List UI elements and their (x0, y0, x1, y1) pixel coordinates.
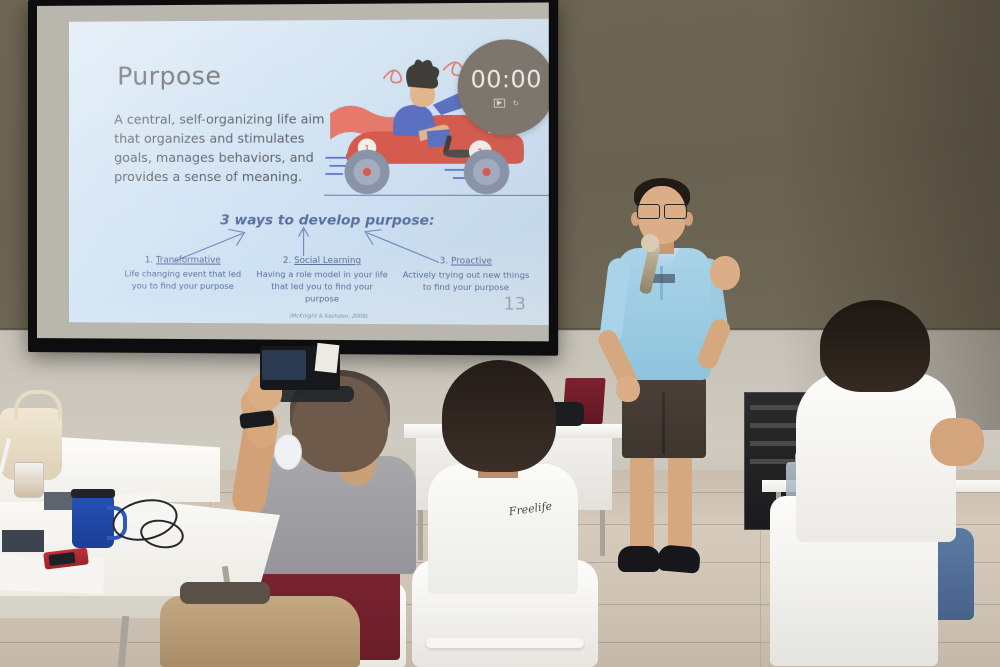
presentation-slide: Purpose A central, self-organizing life … (69, 19, 549, 325)
arrow-middle (293, 226, 313, 258)
attendee-white-tee: Freelife (406, 360, 616, 667)
screen-surface: Purpose A central, self-organizing life … (37, 2, 549, 341)
shoe-right (657, 544, 701, 574)
travel-tumbler (72, 496, 114, 548)
hand-left (616, 376, 640, 402)
ways-heading: 3 ways to develop purpose: (220, 212, 434, 229)
presenter (600, 178, 760, 598)
plastic-cup (14, 462, 44, 498)
column-1-heading: Transformative (156, 255, 221, 265)
slide-page-number: 13 (503, 294, 525, 315)
shoe-left (618, 546, 660, 572)
play-icon[interactable]: ▶ (494, 99, 506, 108)
column-3-heading: Proactive (451, 256, 492, 266)
hair (442, 360, 556, 472)
white-tshirt (796, 372, 956, 542)
seminar-room-photo: Purpose A central, self-organizing life … (0, 0, 1000, 667)
column-social-learning: 2. Social Learning Having a role model i… (256, 255, 389, 306)
slide-title: Purpose (117, 61, 221, 91)
slide-body-text: A central, self-organizing life aim that… (114, 109, 332, 186)
backpack (160, 596, 360, 667)
column-transformative: 1. Transformative Life changing event th… (117, 254, 248, 293)
race-car-illustration: 1 1 00:00 ▶ ↻ ✕ (324, 37, 549, 200)
camera-screen (262, 350, 306, 380)
slide-citation: (McKnight & Kashdan, 2008) (289, 313, 368, 320)
hair (820, 300, 930, 392)
column-2-text: Having a role model in your life that le… (256, 269, 388, 304)
glasses-icon (637, 204, 687, 217)
hand-right (710, 256, 740, 290)
column-1-text: Life changing event that led you to find… (125, 269, 242, 291)
camera-tag (315, 343, 340, 373)
projector-screen: Purpose A central, self-organizing life … (28, 0, 558, 356)
column-proactive: 3. Proactive Actively trying out new thi… (399, 255, 533, 294)
tshirt-print: Freelife (508, 499, 560, 537)
timer-display: 00:00 (471, 67, 542, 94)
attendee-right (770, 300, 1000, 667)
printed-photo (2, 530, 44, 552)
column-3-text: Actively trying out new things to find y… (403, 270, 530, 293)
reset-icon[interactable]: ↻ (513, 99, 519, 107)
face-mask (274, 434, 302, 470)
countdown-timer[interactable]: 00:00 ▶ ↻ (458, 39, 549, 135)
column-2-heading: Social Learning (294, 256, 361, 266)
camera[interactable] (260, 346, 340, 390)
